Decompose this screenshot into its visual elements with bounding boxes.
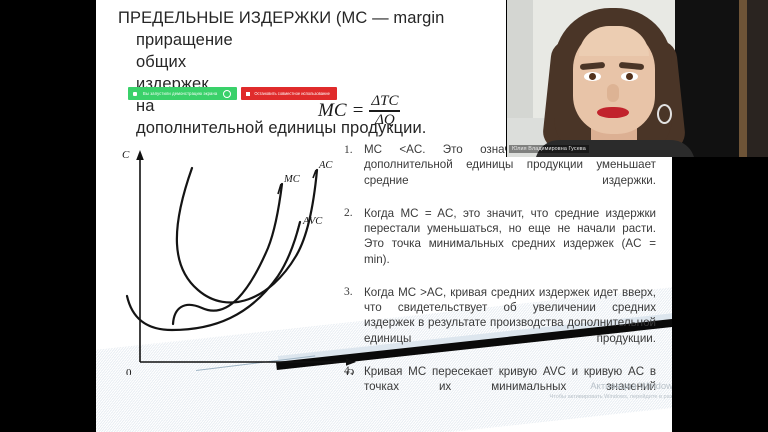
- curve-label-ac: AC: [318, 160, 333, 171]
- graph-origin-label: 0: [126, 367, 132, 375]
- curve-avc: [127, 222, 300, 330]
- list-item-number: 1.: [344, 142, 364, 204]
- list-item: 4. Кривая MC пересекает кривую AVC и кри…: [344, 364, 656, 410]
- person-eye-right: [621, 72, 638, 81]
- background-door: [675, 0, 747, 157]
- list-item: 2. Когда MC = AC, это значит, что средни…: [344, 206, 656, 283]
- sharing-status-label: Вы запустили демонстрацию экрана: [143, 91, 217, 96]
- curve-label-avc: AVC: [302, 216, 323, 227]
- list-item-text: Кривая MC пересекает кривую AVC и кривую…: [364, 364, 656, 410]
- formula-lhs: MC: [318, 100, 347, 122]
- formula-marginal-cost: MC = ΔTC ΔQ: [318, 94, 400, 128]
- list-item: 3. Когда MC >AC, кривая средних издержек…: [344, 285, 656, 362]
- participant-name-label: Юлия Владимировна Гусева: [509, 145, 589, 153]
- background-wall-panel: [507, 0, 533, 118]
- list-item-number: 2.: [344, 206, 364, 283]
- letterbox-bar-left: [0, 0, 96, 432]
- person-earring: [657, 104, 672, 124]
- list-item-text: Когда MC >AC, кривая средних издержек ид…: [364, 285, 656, 362]
- formula-numerator: ΔTC: [369, 94, 400, 109]
- formula-denominator: ΔQ: [373, 113, 397, 128]
- background-door-frame: [747, 0, 768, 157]
- curve-label-mc: MC: [283, 174, 301, 185]
- person-lips: [597, 107, 629, 118]
- sharing-status-chip[interactable]: Вы запустили демонстрацию экрана: [128, 87, 237, 100]
- formula-fraction: ΔTC ΔQ: [369, 94, 400, 128]
- person-eye-left: [584, 72, 601, 81]
- list-item-number: 3.: [344, 285, 364, 362]
- cost-curves-graph: C Q 0 AC MC AVC: [110, 140, 360, 375]
- explanation-list: 1. MC <AC. Это означает, что производств…: [344, 142, 656, 412]
- person-nose: [607, 84, 619, 102]
- graph-y-axis-label: C: [122, 149, 130, 161]
- screen-share-stage: ПРЕДЕЛЬНЫЕ ИЗДЕРЖКИ (MC — margin прираще…: [0, 0, 768, 432]
- gear-icon[interactable]: [223, 90, 231, 98]
- formula-equals: =: [352, 100, 365, 122]
- stop-square-icon: [133, 92, 137, 96]
- graph-axes: [136, 150, 356, 366]
- person-iris-right: [626, 73, 633, 80]
- list-item-text: Когда MC = AC, это значит, что средние и…: [364, 206, 656, 283]
- list-item-number: 4.: [344, 364, 364, 410]
- stop-square-icon: [246, 92, 250, 96]
- webcam-video-tile[interactable]: Юлия Владимировна Гусева: [506, 0, 768, 157]
- person-iris-left: [589, 73, 596, 80]
- screen-share-toolbar[interactable]: Вы запустили демонстрацию экрана Останов…: [128, 87, 337, 100]
